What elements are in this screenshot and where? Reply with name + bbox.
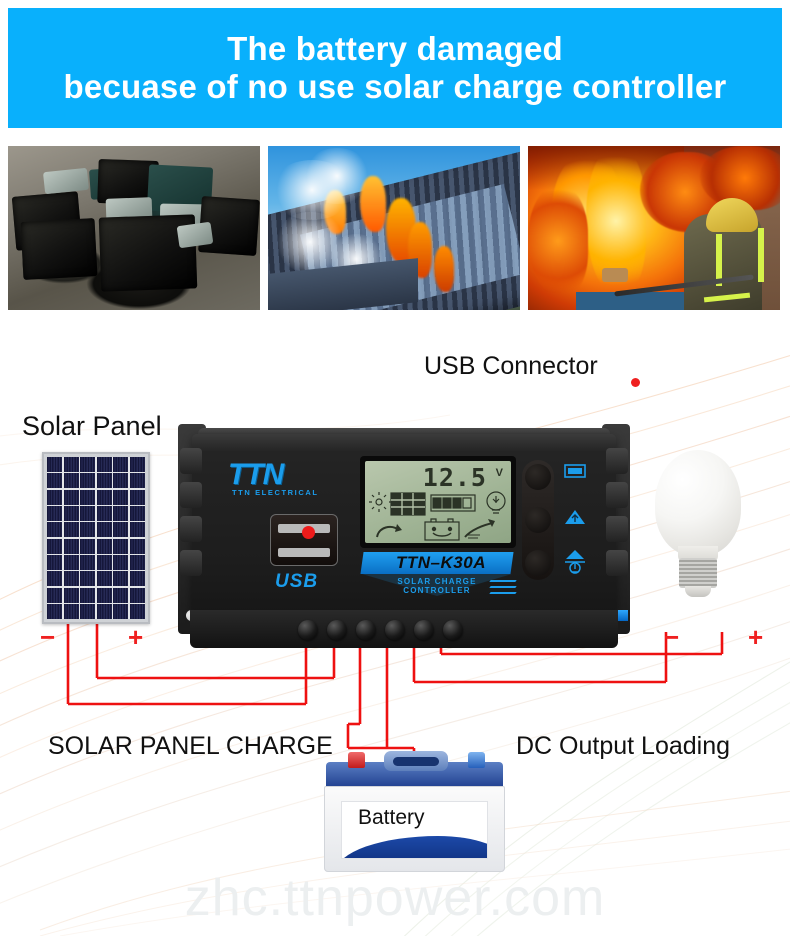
button-pad xyxy=(522,460,554,580)
lcd-voltage-unit: V xyxy=(496,467,503,479)
up-triangle-icon xyxy=(564,508,586,526)
vent-fin xyxy=(606,482,628,508)
vent-fin xyxy=(180,550,202,576)
lcd-icon-group xyxy=(369,491,511,541)
banner-line-2: becuase of no use solar charge controlle… xyxy=(64,68,727,106)
terminal-block xyxy=(298,620,468,642)
terminal-screw[interactable] xyxy=(443,620,463,640)
panel-minus-symbol: − xyxy=(40,624,55,650)
solar-panel-icon xyxy=(391,493,425,515)
load-plus-symbol: + xyxy=(748,624,763,650)
led-bulb-graphic xyxy=(655,450,741,600)
photo-firefighter-flames xyxy=(528,146,780,310)
vent-fin xyxy=(180,516,202,542)
watermark: zhc.ttnpower.com xyxy=(0,868,790,928)
usb-port-label: USB xyxy=(275,571,318,593)
lcd-display: 12.5 V xyxy=(360,456,516,548)
battery-positive-post xyxy=(348,752,365,768)
model-name: TTN–K30A xyxy=(370,553,512,573)
up-button[interactable] xyxy=(525,507,551,533)
display-icon xyxy=(564,464,586,478)
charge-arrow-icon xyxy=(377,524,402,537)
display-button[interactable] xyxy=(525,464,551,490)
label-solar-panel: Solar Panel xyxy=(22,411,162,442)
label-dc-output-loading: DC Output Loading xyxy=(516,732,730,761)
battery-handle xyxy=(384,751,448,771)
smiling-battery-icon xyxy=(425,519,459,540)
label-usb-connector: USB Connector xyxy=(424,352,598,381)
light-load-icon xyxy=(564,548,586,574)
usb-marker-dot-icon xyxy=(631,378,640,387)
model-badge: TTN–K30A SOLAR CHARGE CONTROLLER xyxy=(362,552,512,602)
sun-icon xyxy=(369,492,392,512)
vent-fin xyxy=(180,482,202,508)
light-button[interactable] xyxy=(525,550,551,576)
photo-solar-roof-fire xyxy=(268,146,520,310)
lcd-voltage-value: 12.5 xyxy=(423,463,487,492)
terminal-screw[interactable] xyxy=(414,620,434,640)
vent-fin xyxy=(180,448,202,474)
solar-cell-grid xyxy=(47,457,145,619)
light-bulb-icon xyxy=(487,492,505,513)
controller-front-panel: TTN TTN ELECTRICAL USB 12.5 V xyxy=(192,434,616,612)
battery-graphic: Battery xyxy=(322,748,507,872)
battery-label-text: Battery xyxy=(358,806,425,830)
brand-subtitle: TTN ELECTRICAL xyxy=(232,488,319,497)
vent-fin xyxy=(606,516,628,542)
terminal-screw[interactable] xyxy=(327,620,347,640)
usb-indicator-dot-icon xyxy=(302,526,315,539)
usb-port[interactable] xyxy=(270,514,338,566)
solar-panel-graphic xyxy=(42,452,150,624)
vent-fin xyxy=(606,550,628,576)
header-banner: The battery damaged becuase of no use so… xyxy=(8,8,782,128)
battery-level-icon xyxy=(431,495,475,511)
load-arrow-icon xyxy=(465,519,495,538)
terminal-screw[interactable] xyxy=(298,620,318,640)
panel-plus-symbol: + xyxy=(128,624,143,650)
photo-burned-batteries xyxy=(8,146,260,310)
vent-fin xyxy=(606,448,628,474)
label-solar-panel-charge: SOLAR PANEL CHARGE xyxy=(48,732,333,761)
battery-negative-post xyxy=(468,752,485,768)
terminal-screw[interactable] xyxy=(385,620,405,640)
infographic-page: The battery damaged becuase of no use so… xyxy=(0,0,790,936)
load-minus-symbol: − xyxy=(664,624,679,650)
battery-label: Battery xyxy=(342,802,487,858)
photo-strip xyxy=(8,146,782,310)
brand-logo: TTN xyxy=(228,458,283,492)
banner-line-1: The battery damaged xyxy=(227,30,563,68)
terminal-screw[interactable] xyxy=(356,620,376,640)
